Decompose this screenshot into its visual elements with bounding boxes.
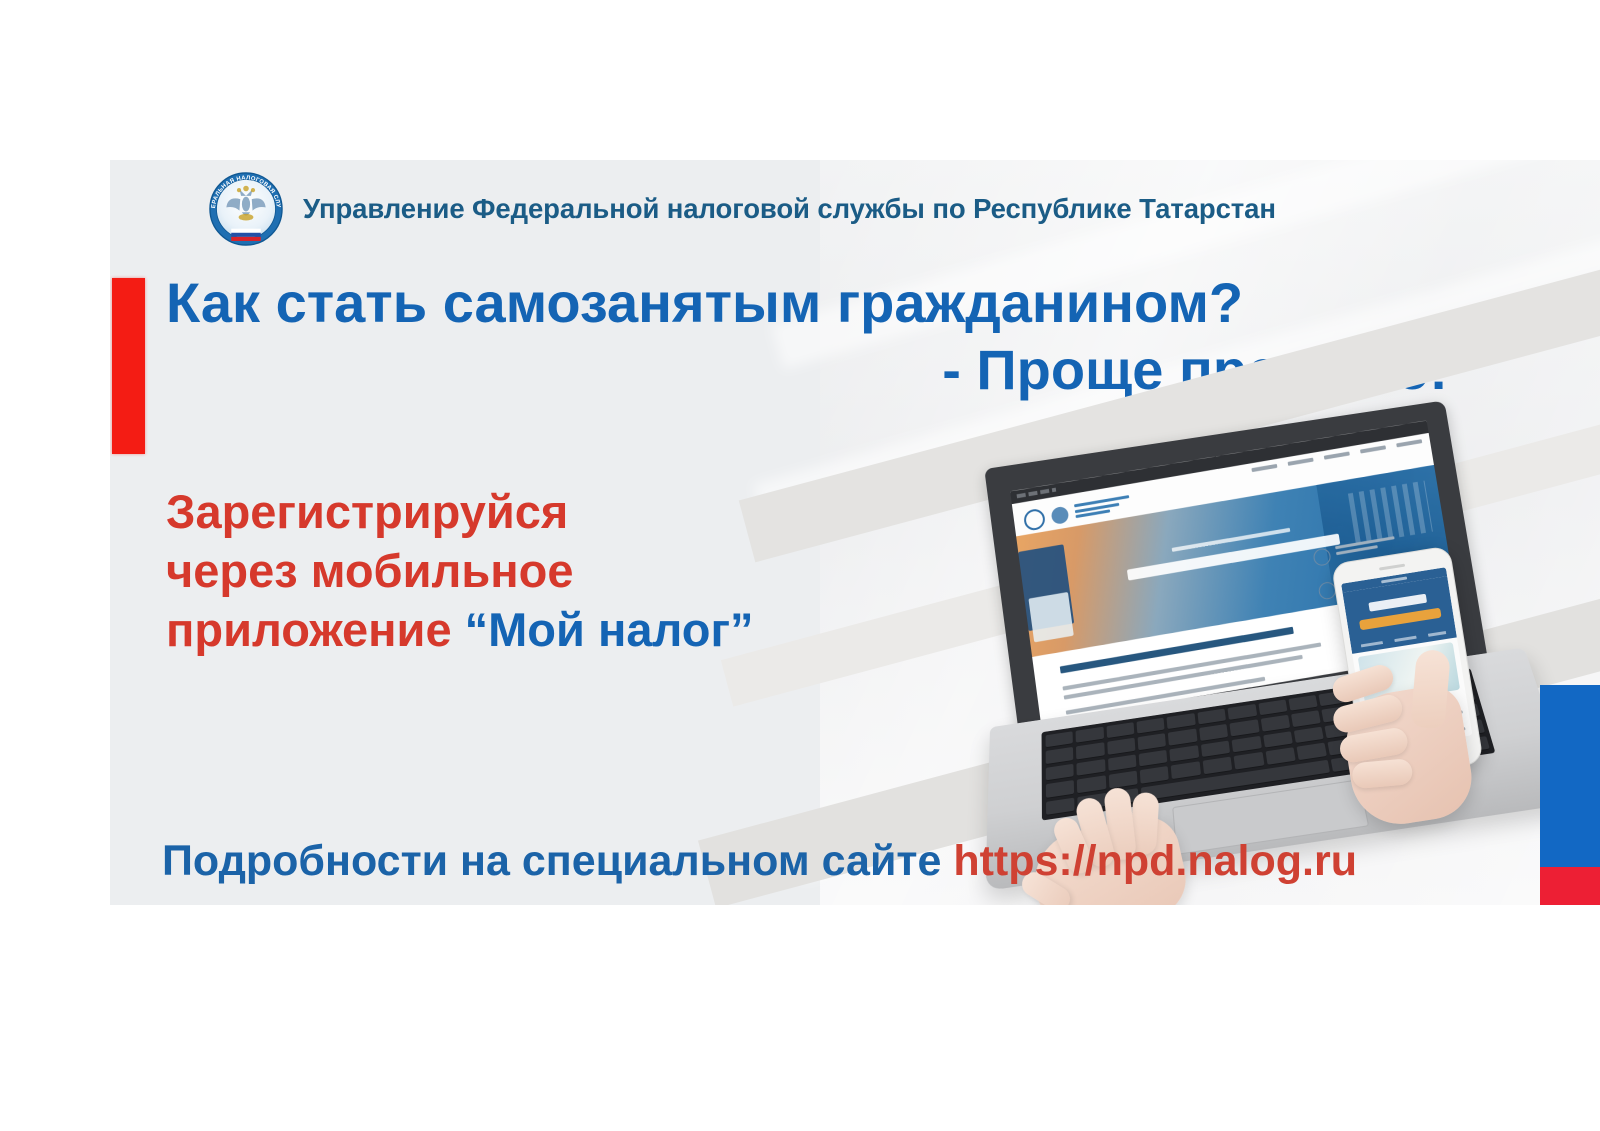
red-accent-bar [112, 278, 145, 454]
banner-header: ФЕДЕРАЛЬНАЯ НАЛОГОВАЯ СЛУЖБА [205, 168, 1276, 250]
promo-banner: ФЕДЕРАЛЬНАЯ НАЛОГОВАЯ СЛУЖБА [110, 160, 1600, 905]
footer-url[interactable]: https://npd.nalog.ru [953, 837, 1357, 885]
laptop-photo [850, 410, 1600, 905]
app-name: “Мой налог” [465, 603, 754, 656]
footer-text: Подробности на специальном сайте [162, 837, 941, 885]
russian-flag-block [1540, 685, 1600, 905]
promo-line-3-red: приложение [166, 603, 452, 656]
promo-line-3: приложение “Мой налог” [166, 600, 754, 659]
flag-blue-stripe [1540, 685, 1600, 867]
site-mark-icon [1051, 506, 1070, 525]
holding-hand [1322, 632, 1546, 860]
site-emblem-icon [1023, 508, 1046, 532]
promo-text: Зарегистрируйся через мобильное приложен… [166, 482, 754, 660]
flag-red-stripe [1540, 867, 1600, 905]
balance-amount [1368, 594, 1427, 612]
organization-title: Управление Федеральной налоговой службы … [303, 193, 1276, 225]
headline-line-1: Как стать самозанятым гражданином? [166, 272, 1456, 335]
fns-emblem-icon: ФЕДЕРАЛЬНАЯ НАЛОГОВАЯ СЛУЖБА [205, 168, 287, 250]
footer-line: Подробности на специальном сайте https:/… [162, 837, 1357, 886]
promo-line-2: через мобильное [166, 541, 754, 600]
promo-line-1: Зарегистрируйся [166, 482, 754, 541]
